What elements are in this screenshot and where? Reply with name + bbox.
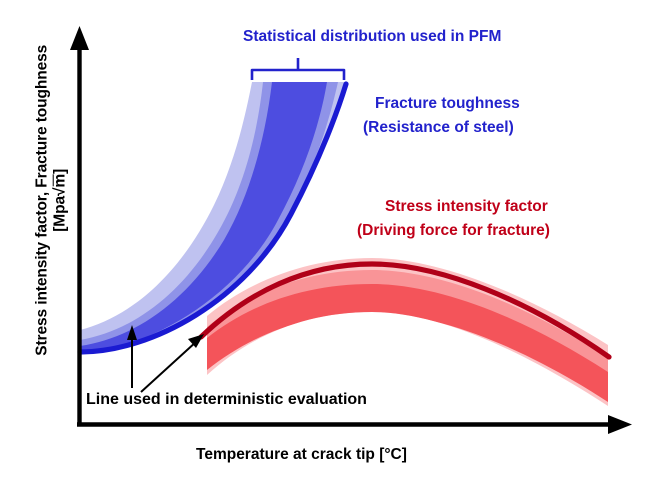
toughness-label-line2: (Resistance of steel)	[363, 119, 514, 137]
sqrt-icon: √m	[52, 174, 69, 196]
x-axis-label: Temperature at crack tip [°C]	[196, 446, 407, 464]
y-axis-radicand: m	[52, 174, 69, 188]
toughness-label-line1: Fracture toughness	[375, 95, 520, 113]
y-axis-arrowhead	[70, 26, 89, 50]
y-axis-label-line2: [Mpa√m]	[52, 30, 70, 370]
sif-label-line2: (Driving force for fracture)	[357, 222, 550, 240]
bracket-label: Statistical distribution used in PFM	[243, 28, 501, 46]
deterministic-label: Line used in deterministic evaluation	[86, 391, 367, 409]
sif-label-line1: Stress intensity factor	[385, 198, 548, 216]
distribution-bracket	[252, 58, 344, 80]
figure-canvas: Stress intensity factor, Fracture toughn…	[0, 0, 645, 481]
y-axis-label: Stress intensity factor, Fracture toughn…	[34, 30, 71, 370]
x-axis-arrowhead	[608, 415, 632, 434]
y-axis-label-line1: Stress intensity factor, Fracture toughn…	[34, 45, 51, 356]
y-axis-unit-prefix: [Mpa	[52, 196, 69, 232]
